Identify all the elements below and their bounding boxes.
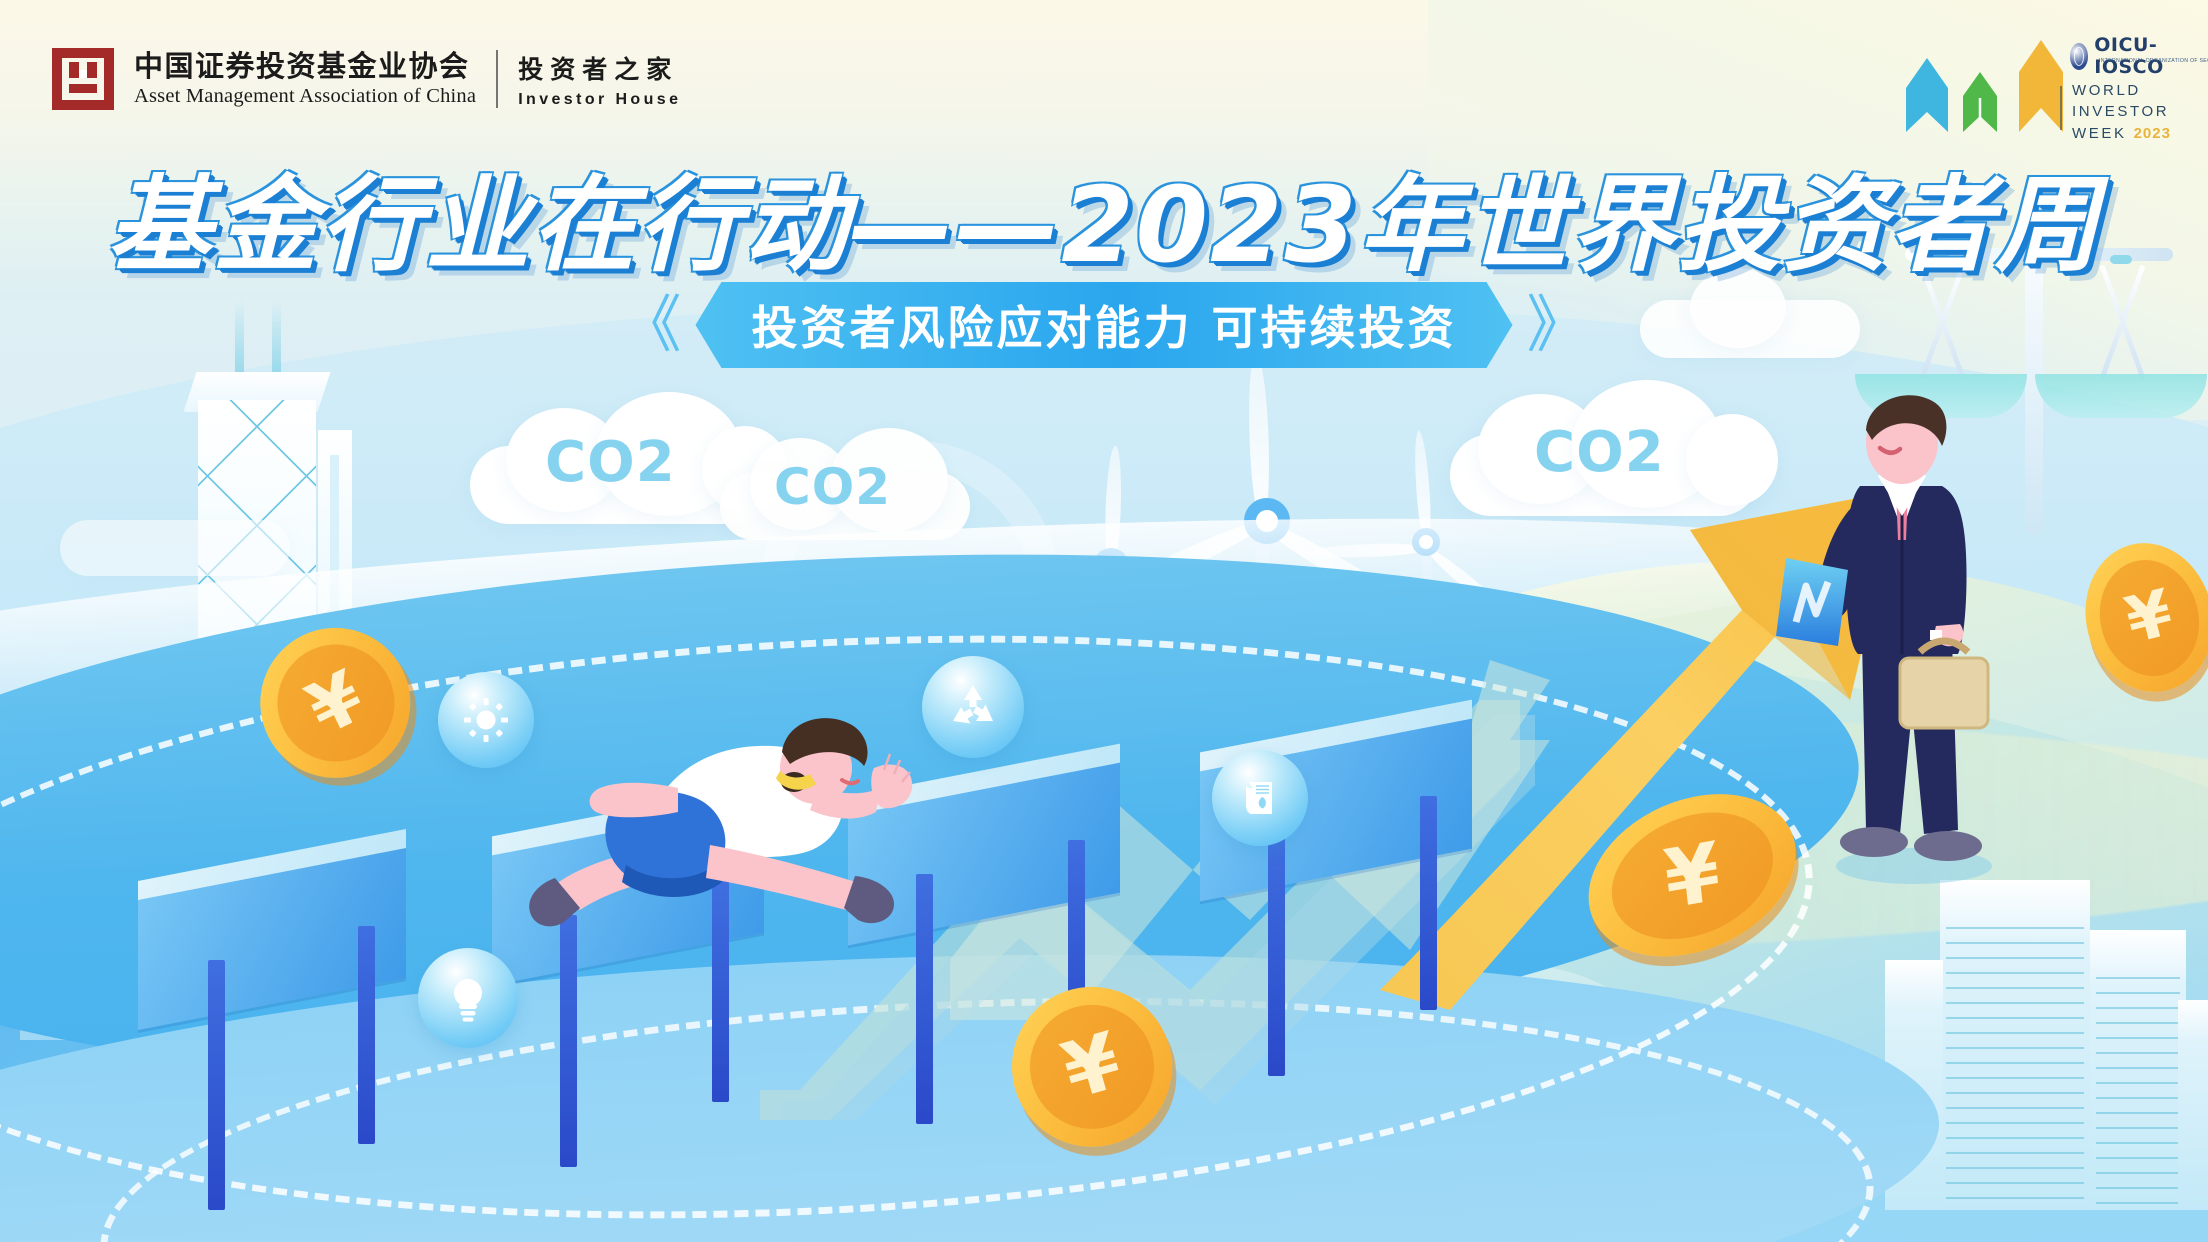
eco-book-icon bbox=[1212, 750, 1308, 846]
amac-name-en: Asset Management Association of China bbox=[134, 85, 476, 108]
hurdler-runner bbox=[460, 640, 1020, 980]
co2-label: CO2 bbox=[1534, 420, 1665, 485]
scales-pan bbox=[2035, 374, 2207, 418]
hero-subtitle: 投资者风险应对能力 可持续投资 bbox=[695, 282, 1512, 368]
amac-logo: 中国证券投资基金业协会 Asset Management Association… bbox=[52, 48, 681, 110]
hero-subtitle-wrap: 《 投资者风险应对能力 可持续投资 》 bbox=[0, 282, 2208, 368]
amac-name-cn: 中国证券投资基金业协会 bbox=[134, 50, 476, 83]
iosco-mark: OICU-IOSCO bbox=[2070, 34, 2184, 78]
investor-house-cn: 投资者之家 bbox=[518, 50, 681, 86]
pencil-icon bbox=[2010, 40, 2072, 132]
right-building bbox=[2090, 930, 2186, 1210]
wiw-wordmark: WORLD INVESTOR WEEK 2023 bbox=[2072, 80, 2171, 144]
hero-title-wrap: 基金行业在行动——2023年世界投资者周 bbox=[0, 140, 2208, 291]
pencil-icon bbox=[1898, 58, 1956, 132]
chevron-right-icon: 》 bbox=[1527, 294, 1589, 356]
right-building bbox=[1940, 880, 2090, 1210]
investor-house-en: Investor House bbox=[518, 91, 681, 109]
wiw-line-1: WORLD bbox=[2072, 80, 2171, 101]
amac-seal-icon bbox=[52, 48, 114, 110]
co2-label: CO2 bbox=[774, 458, 891, 516]
right-building bbox=[2178, 1000, 2208, 1210]
chevron-left-icon: 《 bbox=[619, 294, 681, 356]
wiw-2023-banner: CO2 CO2 CO2 bbox=[0, 0, 2208, 1242]
amac-text-block: 中国证券投资基金业协会 Asset Management Association… bbox=[134, 50, 476, 108]
investor-house-block: 投资者之家 Investor House bbox=[518, 50, 681, 109]
world-investor-week-logo: OICU-IOSCO INTERNATIONAL ORGANIZATION OF… bbox=[1892, 28, 2184, 134]
cloud bbox=[60, 520, 290, 576]
page-title: 基金行业在行动——2023年世界投资者周 bbox=[107, 140, 2100, 291]
logo-divider bbox=[496, 50, 498, 108]
globe-icon bbox=[2070, 43, 2088, 70]
wiw-divider bbox=[2060, 86, 2062, 130]
businessman-investor bbox=[1752, 390, 2052, 890]
iosco-subtitle: INTERNATIONAL ORGANIZATION OF SECURITIES… bbox=[2099, 58, 2208, 64]
pencil-icon bbox=[1956, 72, 2004, 132]
wiw-line-2: INVESTOR bbox=[2072, 101, 2171, 122]
iosco-name: OICU-IOSCO bbox=[2094, 34, 2184, 78]
co2-label: CO2 bbox=[545, 430, 676, 495]
